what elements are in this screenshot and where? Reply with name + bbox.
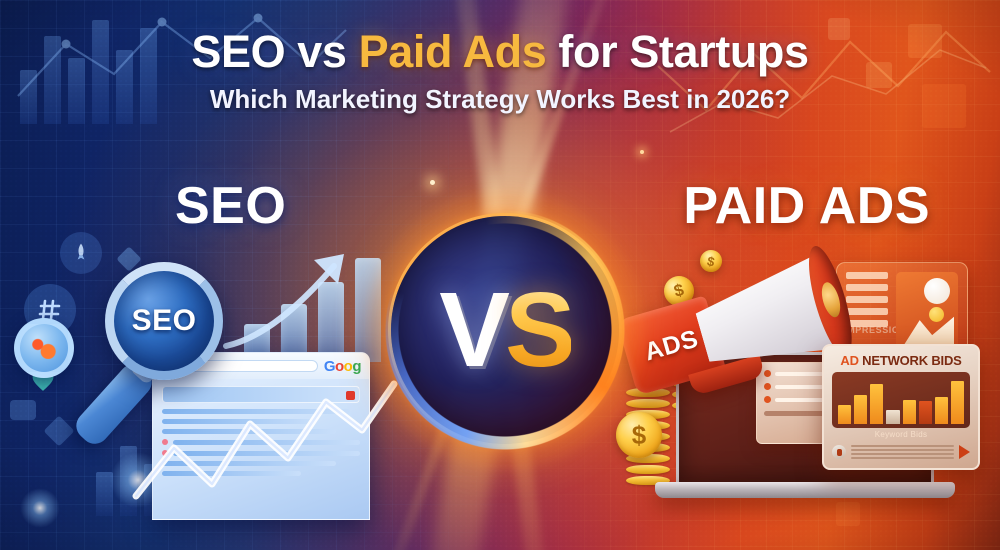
vs-emblem: VS — [391, 216, 619, 444]
page-title: SEO vs Paid Ads for Startups — [0, 28, 1000, 75]
title-highlight: Paid Ads — [359, 26, 547, 77]
bids-panel-footer — [832, 445, 970, 459]
vs-text: VS — [391, 216, 619, 444]
legend-line — [846, 308, 888, 315]
mini-lens-glyph — [31, 337, 57, 359]
ad-network-bids-title: AD NETWORK BIDS — [832, 353, 970, 368]
banner-heading-block: SEO vs Paid Ads for Startups Which Marke… — [0, 28, 1000, 115]
bids-title-accent: AD — [840, 353, 858, 368]
play-icon[interactable] — [959, 445, 970, 459]
title-part-2: for Startups — [546, 26, 808, 77]
seo-growth-arrow-icon — [222, 246, 372, 356]
coin-symbol: $ — [672, 280, 686, 302]
bids-bar-5 — [903, 400, 916, 424]
bids-bar-chart — [832, 372, 970, 428]
bids-bar-2 — [854, 395, 867, 424]
ad-network-bids-panel[interactable]: AD NETWORK BIDS Keyword Bids — [822, 344, 980, 470]
footer-lines — [851, 445, 954, 459]
laptop-base — [655, 482, 955, 498]
page-subtitle: Which Marketing Strategy Works Best in 2… — [0, 84, 1000, 115]
seo-magnifier: SEO — [105, 262, 223, 380]
legend-line — [846, 284, 888, 291]
status-dot-icon — [764, 370, 771, 377]
bids-bar-1 — [838, 405, 851, 424]
megaphone-label: ADS — [641, 324, 701, 367]
bids-chart-caption: Keyword Bids — [832, 430, 970, 439]
side-label-seo: SEO — [175, 176, 286, 236]
status-dot-icon — [764, 383, 771, 390]
footer-line — [851, 453, 954, 455]
magnifier-label: SEO — [132, 304, 197, 338]
legend-line — [846, 320, 888, 327]
highlight-dot-icon — [929, 307, 944, 322]
vs-letter-s: S — [505, 277, 571, 383]
title-part-1: SEO vs — [191, 26, 358, 77]
analytics-legend — [846, 272, 888, 348]
record-icon[interactable] — [832, 445, 846, 459]
coin-symbol: $ — [706, 253, 716, 269]
vs-ring: VS — [391, 216, 619, 444]
bids-bar-8 — [951, 381, 964, 424]
analytics-thumbnail — [896, 272, 958, 348]
bids-bar-6 — [919, 401, 932, 424]
bids-bar-4 — [886, 410, 899, 424]
side-label-paid-ads: PAID ADS — [683, 176, 930, 236]
bids-title-rest: NETWORK BIDS — [859, 353, 962, 368]
vs-letter-v: V — [439, 277, 505, 383]
coin-symbol: $ — [632, 420, 646, 451]
legend-line — [846, 296, 888, 303]
seo-mini-magnifier-icon — [14, 318, 74, 378]
coin-large: $ — [616, 412, 662, 458]
bids-bar-3 — [870, 384, 883, 424]
bids-bar-7 — [935, 397, 948, 424]
seo-growth-zigzag-line — [130, 372, 400, 502]
magnifier-lens: SEO — [105, 262, 223, 380]
sparkle-e — [430, 180, 435, 185]
footer-line — [851, 445, 954, 447]
footer-line — [851, 449, 954, 451]
legend-line — [846, 272, 888, 279]
footer-line — [851, 457, 954, 459]
status-dot-icon — [764, 396, 771, 403]
banner-canvas: G o o g — [0, 0, 1000, 550]
sparkle-c — [640, 150, 644, 154]
